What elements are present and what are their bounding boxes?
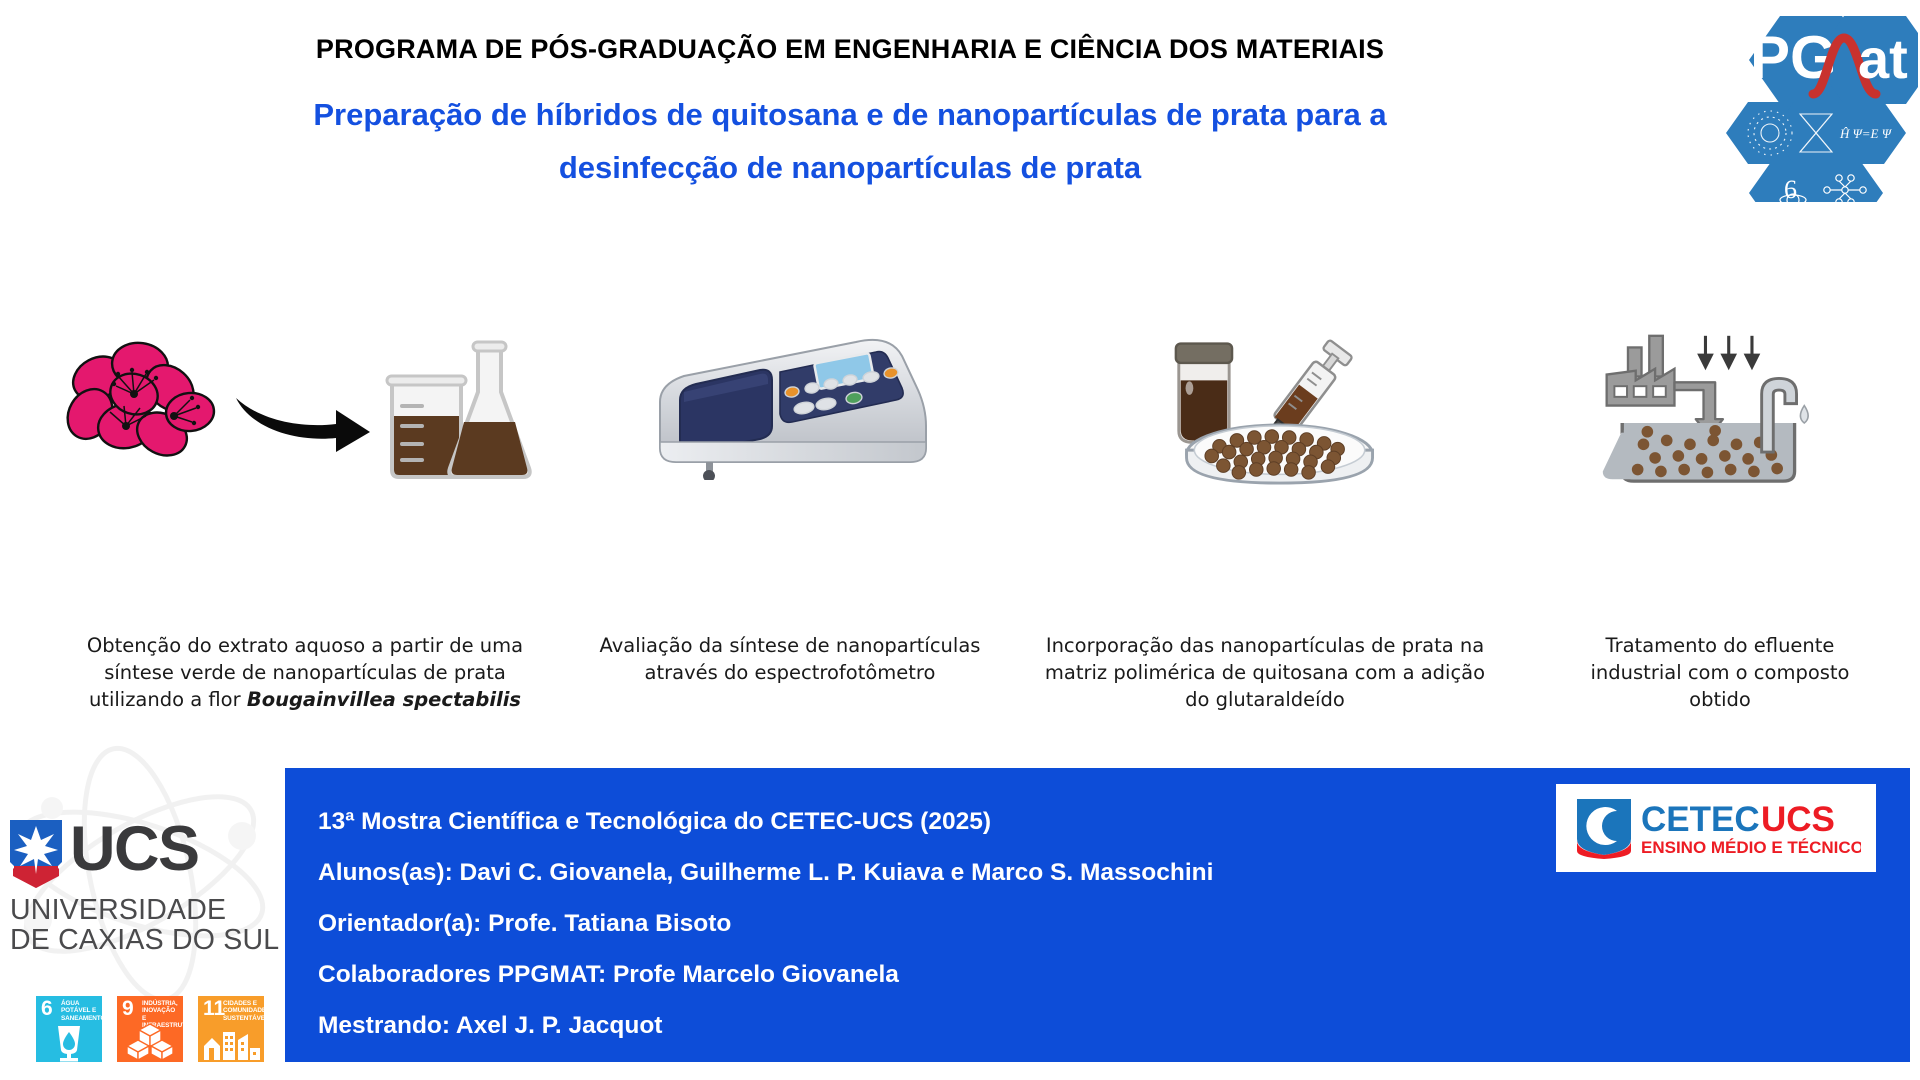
step-caption: Incorporação das nanopartículas de prata… bbox=[1015, 632, 1515, 713]
ucs-wordmark: UCS bbox=[8, 818, 199, 890]
step-incorporation: Incorporação das nanopartículas de prata… bbox=[1015, 330, 1515, 713]
sdg-number: 9 bbox=[122, 998, 134, 1019]
step-caption: Tratamento do efluente industrial com o … bbox=[1530, 632, 1910, 713]
sdg-icon-9: 9 INDÚSTRIA, INOVAÇÃO E INFRAESTRUTURA bbox=[117, 996, 183, 1062]
footer-line-students: Alunos(as): Davi C. Giovanela, Guilherme… bbox=[318, 847, 1548, 898]
svg-text:Ĥ Ψ=E Ψ: Ĥ Ψ=E Ψ bbox=[1839, 126, 1893, 141]
ucs-shield-icon bbox=[8, 818, 64, 890]
cubes-icon bbox=[117, 1020, 183, 1062]
ucs-name-line2: DE CAXIAS DO SUL bbox=[10, 924, 279, 957]
factory-effluent-tank-icon bbox=[1595, 330, 1845, 480]
step-caption: Avaliação da síntese de nanopartículas a… bbox=[580, 632, 1000, 686]
sdg-number: 6 bbox=[41, 998, 53, 1019]
step-extract: Obtenção do extrato aquoso a partir de u… bbox=[40, 330, 570, 713]
sdg-icon-11: 11 CIDADES E COMUNIDADES SUSTENTÁVEIS bbox=[198, 996, 264, 1062]
sdg-icons: 6 ÁGUA POTÁVEL E SANEAMENTO 9 INDÚSTRIA,… bbox=[36, 996, 264, 1062]
step-caption: Obtenção do extrato aquoso a partir de u… bbox=[40, 632, 570, 713]
footer-info-box: 13ª Mostra Científica e Tecnológica do C… bbox=[285, 768, 1910, 1062]
footer-line-advisor: Orientador(a): Profe. Tatiana Bisoto bbox=[318, 898, 1548, 949]
step-spectrophotometer: Avaliação da síntese de nanopartículas a… bbox=[580, 330, 1000, 686]
sdg-icon-6: 6 ÁGUA POTÁVEL E SANEAMENTO bbox=[36, 996, 102, 1062]
vial-syringe-petridish-icon bbox=[1140, 330, 1390, 480]
ucs-acronym: UCS bbox=[70, 818, 199, 880]
svg-text:ENSINO MÉDIO E TÉCNICO: ENSINO MÉDIO E TÉCNICO bbox=[1641, 838, 1861, 857]
step-treatment: Tratamento do efluente industrial com o … bbox=[1530, 330, 1910, 713]
poster-title-line1: Preparação de híbridos de quitosana e de… bbox=[0, 80, 1700, 150]
footer-line-collaborators: Colaboradores PPGMAT: Profe Marcelo Giov… bbox=[318, 949, 1548, 1000]
svg-text:6: 6 bbox=[1784, 175, 1797, 202]
flower-arrow-beakers-icon bbox=[40, 330, 570, 480]
pgmat-logo: PG at Ĥ Ψ=E Ψ 6 CAPES bbox=[1718, 2, 1918, 202]
poster-canvas: PROGRAMA DE PÓS-GRADUAÇÃO EM ENGENHARIA … bbox=[0, 0, 1920, 1080]
svg-text:CETEC: CETEC bbox=[1641, 800, 1760, 839]
footer-line-event: 13ª Mostra Científica e Tecnológica do C… bbox=[318, 796, 1548, 847]
ucs-name-line1: UNIVERSIDADE bbox=[10, 894, 226, 927]
sdg-label: ÁGUA POTÁVEL E SANEAMENTO bbox=[61, 1000, 99, 1022]
cetec-ucs-logo: CETEC UCS ENSINO MÉDIO E TÉCNICO bbox=[1556, 784, 1876, 872]
svg-text:UCS: UCS bbox=[1761, 800, 1835, 839]
process-steps: Obtenção do extrato aquoso a partir de u… bbox=[0, 330, 1920, 690]
footer-text-block: 13ª Mostra Científica e Tecnológica do C… bbox=[318, 796, 1548, 1051]
poster-title-line2: desinfecção de nanopartículas de prata bbox=[0, 150, 1700, 186]
sdg-label: CIDADES E COMUNIDADES SUSTENTÁVEIS bbox=[223, 1000, 261, 1022]
footer-line-master: Mestrando: Axel J. P. Jacquot bbox=[318, 1000, 1548, 1051]
sdg-number: 11 bbox=[203, 998, 225, 1019]
spectrophotometer-icon bbox=[640, 330, 940, 480]
water-glass-icon bbox=[36, 1020, 102, 1062]
svg-text:at: at bbox=[1858, 27, 1908, 90]
program-title: PROGRAMA DE PÓS-GRADUAÇÃO EM ENGENHARIA … bbox=[0, 34, 1700, 65]
city-buildings-icon bbox=[198, 1028, 264, 1062]
